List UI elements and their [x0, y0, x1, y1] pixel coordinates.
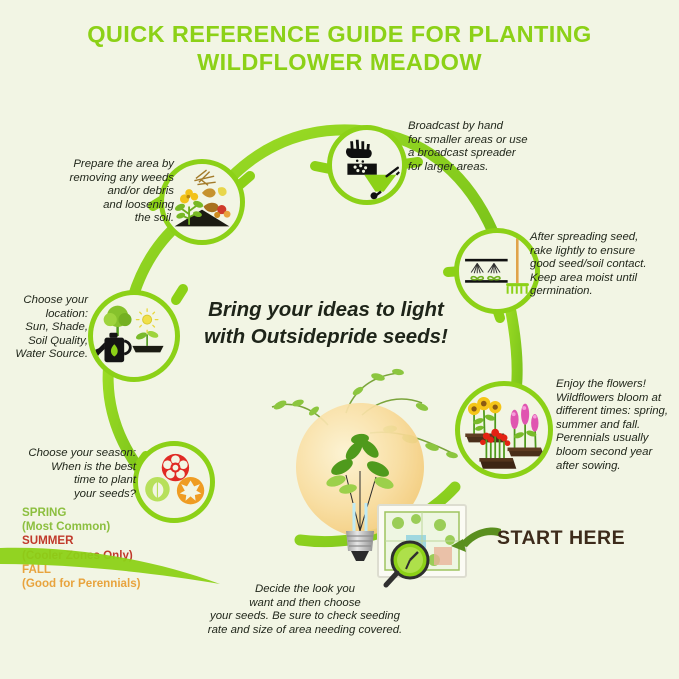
center-tagline: Bring your ideas to light with Outsidepr… — [186, 296, 466, 350]
tree-sun-wateringcan-icon — [93, 295, 175, 377]
caption-rake-and-water: After spreading seed,rake lightly to ens… — [530, 231, 678, 299]
infographic-canvas: QUICK REFERENCE GUIDE FOR PLANTING WILDF… — [0, 0, 679, 679]
weeds-debris-icon — [164, 164, 240, 240]
season-name-spring: SPRING — [22, 506, 192, 520]
caption-choose-location: Choose yourlocation:Sun, Shade,Soil Qual… — [2, 294, 88, 362]
caption-enjoy-flowers: Enjoy the flowers!Wildflowers bloom atdi… — [556, 378, 679, 473]
rake-sprinkler-icon — [459, 233, 535, 309]
hand-broadcast-spreader-icon — [332, 130, 402, 200]
start-here-label: START HERE — [497, 527, 625, 550]
caption-broadcast-seed: Broadcast by handfor smaller areas or us… — [408, 120, 558, 174]
step-node-choose-location[interactable] — [88, 290, 180, 382]
decorative-swoosh — [0, 520, 330, 610]
caption-prepare-area: Prepare the area byremoving any weedsand… — [44, 158, 174, 226]
step-node-rake-and-water[interactable] — [454, 228, 540, 314]
caption-choose-season: Choose your season:When is the besttime … — [4, 447, 136, 501]
tagline-line2: with Outsidepride seeds! — [186, 323, 466, 350]
step-node-broadcast-seed[interactable] — [327, 125, 407, 205]
tagline-line1: Bring your ideas to light — [186, 296, 466, 323]
